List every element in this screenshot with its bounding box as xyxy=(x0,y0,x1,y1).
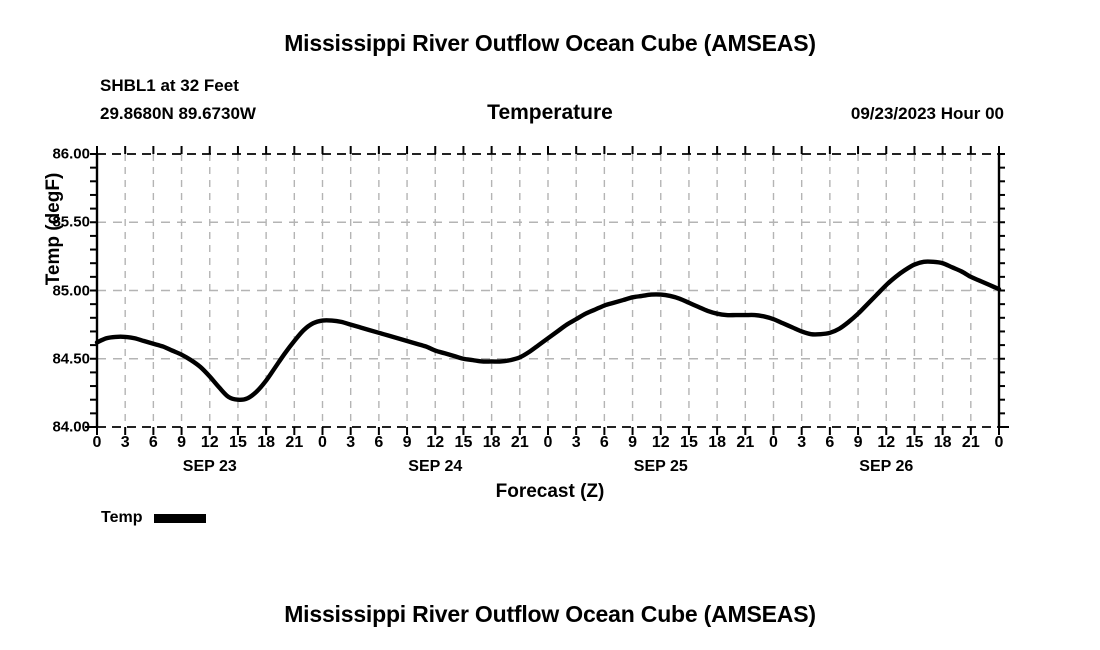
x-axis-day-label: SEP 23 xyxy=(183,458,237,476)
x-tick-label: 0 xyxy=(995,434,1004,452)
x-tick-label: 6 xyxy=(825,434,834,452)
chart-page: Mississippi River Outflow Ocean Cube (AM… xyxy=(0,0,1100,650)
x-tick-label: 9 xyxy=(177,434,186,452)
x-tick-label: 15 xyxy=(680,434,698,452)
x-tick-label: 21 xyxy=(511,434,529,452)
x-tick-label: 6 xyxy=(374,434,383,452)
footer-title: Mississippi River Outflow Ocean Cube (AM… xyxy=(0,601,1100,628)
x-tick-label: 12 xyxy=(201,434,219,452)
x-tick-label: 15 xyxy=(229,434,247,452)
x-tick-label: 12 xyxy=(426,434,444,452)
x-tick-label: 3 xyxy=(572,434,581,452)
x-tick-label: 3 xyxy=(121,434,130,452)
x-tick-label: 21 xyxy=(285,434,303,452)
station-depth-label: SHBL1 at 32 Feet xyxy=(100,76,239,96)
x-axis-day-label: SEP 25 xyxy=(634,458,688,476)
y-tick-label: 86.00 xyxy=(0,146,90,163)
x-tick-label: 0 xyxy=(544,434,553,452)
x-tick-label: 18 xyxy=(257,434,275,452)
y-tick-label: 84.50 xyxy=(0,350,90,367)
x-tick-label: 9 xyxy=(854,434,863,452)
legend-line-swatch xyxy=(154,514,206,523)
x-axis-label: Forecast (Z) xyxy=(0,481,1100,503)
legend-item-label: Temp xyxy=(101,509,142,527)
x-axis-day-label: SEP 26 xyxy=(859,458,913,476)
model-run-label: 09/23/2023 Hour 00 xyxy=(851,104,1004,124)
plot-area xyxy=(97,154,999,427)
temperature-line-chart xyxy=(97,154,999,427)
x-tick-label: 0 xyxy=(318,434,327,452)
x-tick-label: 18 xyxy=(708,434,726,452)
chart-legend: Temp xyxy=(101,509,206,527)
x-tick-label: 9 xyxy=(403,434,412,452)
x-tick-label: 12 xyxy=(877,434,895,452)
x-tick-label: 21 xyxy=(736,434,754,452)
x-tick-label: 21 xyxy=(962,434,980,452)
y-tick-label: 84.00 xyxy=(0,419,90,436)
x-tick-label: 6 xyxy=(149,434,158,452)
x-tick-label: 15 xyxy=(455,434,473,452)
x-tick-label: 6 xyxy=(600,434,609,452)
y-tick-label: 85.50 xyxy=(0,214,90,231)
x-tick-label: 0 xyxy=(769,434,778,452)
x-axis-day-label: SEP 24 xyxy=(408,458,462,476)
x-tick-label: 3 xyxy=(346,434,355,452)
x-tick-label: 18 xyxy=(934,434,952,452)
x-tick-label: 0 xyxy=(93,434,102,452)
x-tick-label: 12 xyxy=(652,434,670,452)
x-tick-label: 18 xyxy=(483,434,501,452)
x-tick-label: 15 xyxy=(906,434,924,452)
x-tick-label: 9 xyxy=(628,434,637,452)
x-tick-label: 3 xyxy=(797,434,806,452)
page-title: Mississippi River Outflow Ocean Cube (AM… xyxy=(0,30,1100,57)
y-tick-label: 85.00 xyxy=(0,282,90,299)
